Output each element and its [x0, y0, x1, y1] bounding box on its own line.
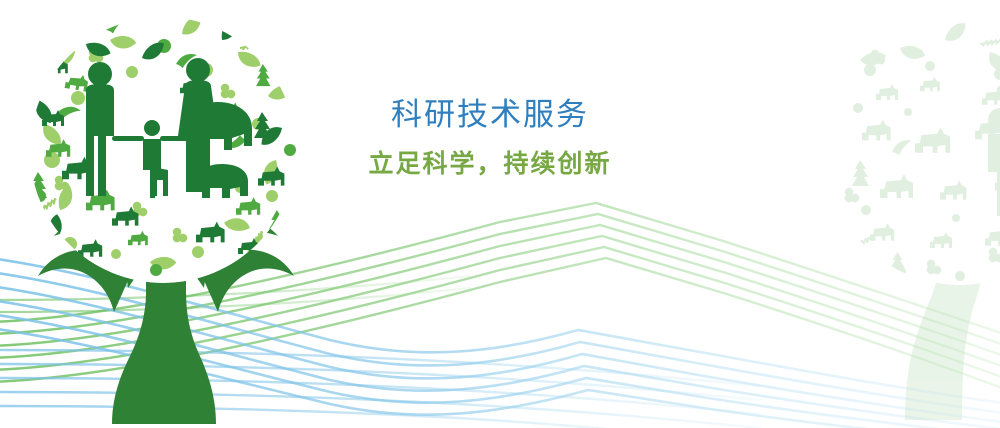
tree-left-graphic	[0, 0, 1000, 428]
page-title: 科研技术服务	[330, 96, 650, 135]
promo-banner: 科研技术服务 立足科学，持续创新	[0, 0, 1000, 428]
page-subtitle: 立足科学，持续创新	[330, 149, 650, 180]
headline-block: 科研技术服务 立足科学，持续创新	[330, 96, 650, 180]
tree-canopy	[30, 13, 296, 283]
